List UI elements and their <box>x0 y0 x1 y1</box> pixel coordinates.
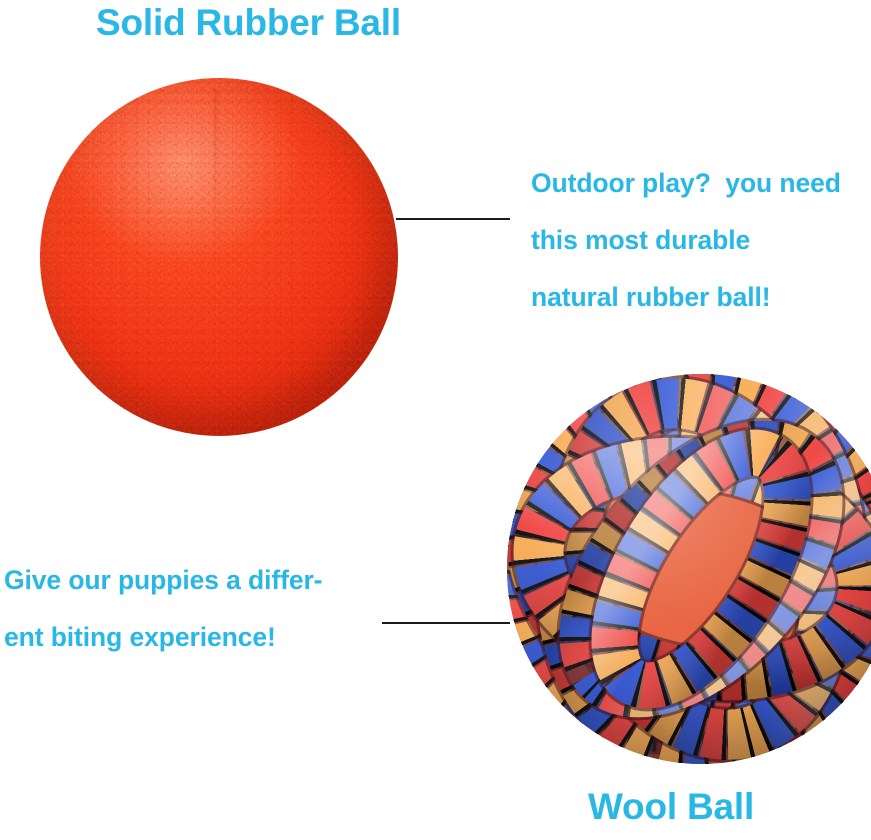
callout-wool-ball: Give our puppies a differ- ent biting ex… <box>4 552 322 666</box>
callout-rubber-ball: Outdoor play? you need this most durable… <box>531 155 841 326</box>
leader-line-rubber-ball <box>396 218 510 220</box>
rubber-texture-overlay <box>40 78 398 436</box>
product-infographic: Solid Rubber Ball Outdoor play? you need… <box>0 0 871 840</box>
title-wool-ball: Wool Ball <box>588 786 754 828</box>
leader-line-wool-ball <box>382 622 510 624</box>
rope-ball-svg <box>505 373 871 767</box>
rubber-seam-line <box>215 89 217 275</box>
red-rubber-ball-photo <box>40 78 398 436</box>
rope-coils-group <box>505 373 871 767</box>
rope-knot-ball-photo <box>505 373 871 767</box>
title-solid-rubber-ball: Solid Rubber Ball <box>96 2 401 44</box>
